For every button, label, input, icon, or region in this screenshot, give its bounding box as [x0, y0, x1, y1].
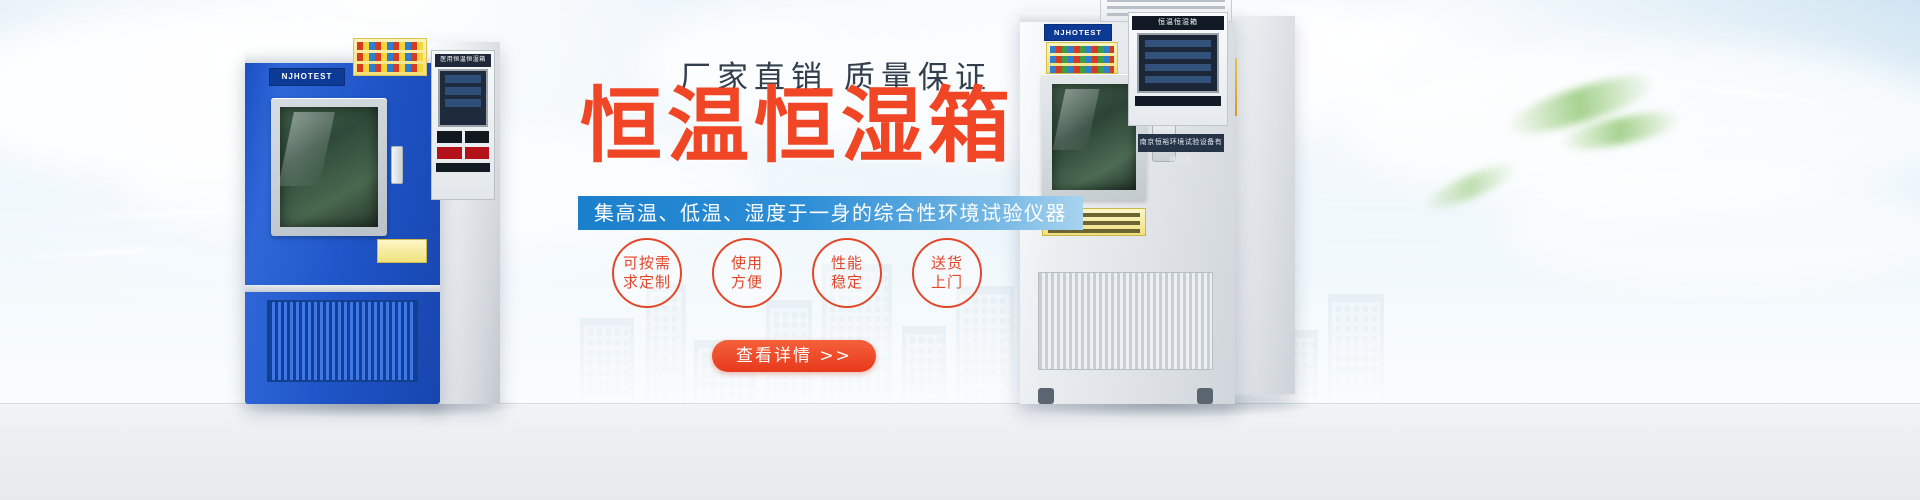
product-photo-left: NJHOTEST 医用恒温恒湿箱 [245, 32, 500, 404]
subtitle-bar: 集高温、低温、湿度于一身的综合性环境试验仪器 [578, 196, 1083, 230]
chamber-door [271, 98, 387, 236]
view-details-button[interactable]: 查看详情 >> [712, 340, 876, 372]
feature-badge-easy-use[interactable]: 使用 方便 [712, 238, 782, 308]
panel-footer-label [436, 163, 490, 172]
caution-label-strip [353, 38, 427, 76]
panel-footer-label [1135, 96, 1221, 106]
promo-banner: NJHOTEST 医用恒温恒湿箱 NJHOTEST [0, 0, 1920, 500]
badge-line-2: 求定制 [623, 273, 671, 292]
page-title: 恒温恒湿箱 [580, 86, 1015, 168]
control-panel-display [1137, 33, 1219, 93]
brand-logo-label: NJHOTEST [269, 68, 345, 86]
feature-badge-stable[interactable]: 性能 稳定 [812, 238, 882, 308]
cloud-shape [1500, 170, 1920, 290]
manufacturer-nameplate: 南京恒裕环境试验设备有限公司 [1138, 134, 1224, 152]
control-panel: 医用恒温恒湿箱 [431, 50, 495, 200]
control-panel-title: 恒温恒湿箱 [1132, 16, 1224, 30]
badge-line-1: 使用 [731, 254, 763, 273]
badge-line-1: 性能 [831, 254, 863, 273]
feature-badge-list: 可按需 求定制 使用 方便 性能 稳定 送货 上门 [612, 238, 982, 308]
control-panel-display [438, 69, 488, 127]
badge-line-1: 可按需 [623, 254, 671, 273]
indicator-row [437, 147, 489, 159]
vent-grille [267, 300, 418, 382]
badge-line-1: 送货 [931, 254, 963, 273]
display-readout-row [437, 131, 489, 143]
door-handle [391, 146, 403, 184]
copy-block: 厂家直销 质量保证 恒温恒湿箱 集高温、低温、湿度于一身的综合性环境试验仪器 可… [560, 0, 1120, 500]
control-panel: 恒温恒湿箱 [1128, 12, 1228, 126]
warning-sticker [377, 239, 427, 263]
cabinet-mid-band [245, 285, 440, 292]
control-panel-title: 医用恒温恒湿箱 [435, 54, 491, 67]
feature-badge-custom[interactable]: 可按需 求定制 [612, 238, 682, 308]
cabinet-body: NJHOTEST [245, 54, 440, 404]
feature-badge-delivery[interactable]: 送货 上门 [912, 238, 982, 308]
door-window-glass [280, 107, 378, 227]
badge-line-2: 稳定 [831, 273, 863, 292]
badge-line-2: 方便 [731, 273, 763, 292]
badge-line-2: 上门 [931, 273, 963, 292]
